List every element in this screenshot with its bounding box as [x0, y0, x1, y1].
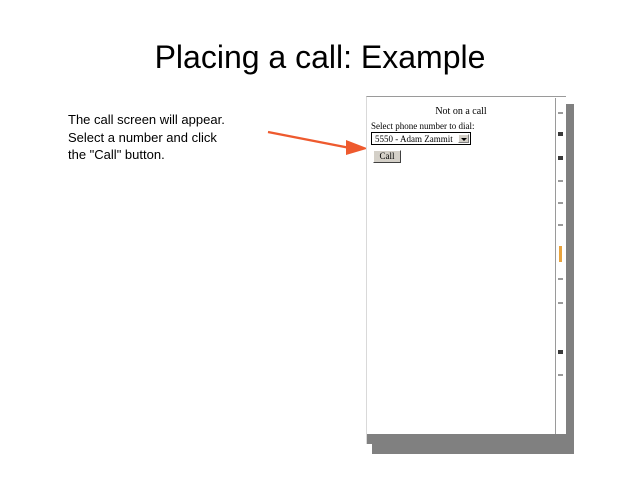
instruction-line-3: the "Call" button.: [68, 146, 283, 164]
embedded-app-screenshot: Not on a call Select phone number to dia…: [366, 96, 574, 454]
phone-number-label: Select phone number to dial:: [371, 121, 555, 131]
call-screen-window: Not on a call Select phone number to dia…: [366, 96, 566, 444]
scrollbar-mark: [558, 156, 563, 160]
scrollbar-mark: [558, 132, 563, 136]
instruction-line-2: Select a number and click: [68, 129, 283, 147]
scrollbar-mark: [558, 224, 563, 226]
scrollbar-mark: [558, 112, 563, 114]
chevron-down-icon: [461, 138, 467, 141]
app-status-bar: [367, 434, 566, 444]
scrollbar-accent-mark: [559, 246, 562, 262]
scrollbar-mark: [558, 180, 563, 182]
scrollbar-mark: [558, 202, 563, 204]
call-button[interactable]: Call: [373, 150, 401, 163]
phone-number-selected-value: 5550 - Adam Zammit: [375, 134, 453, 145]
phone-number-select[interactable]: 5550 - Adam Zammit: [371, 132, 471, 145]
app-scrollbar[interactable]: [555, 98, 566, 434]
page-title: Placing a call: Example: [0, 38, 640, 76]
instruction-text: The call screen will appear. Select a nu…: [68, 111, 283, 164]
dropdown-button[interactable]: [458, 134, 469, 143]
scrollbar-mark: [558, 302, 563, 304]
call-status-text: Not on a call: [367, 106, 555, 117]
scrollbar-mark: [558, 278, 563, 280]
call-screen-content: Not on a call Select phone number to dia…: [367, 98, 555, 434]
instruction-line-1: The call screen will appear.: [68, 111, 283, 129]
scrollbar-mark: [558, 350, 563, 354]
scrollbar-mark: [558, 374, 563, 376]
